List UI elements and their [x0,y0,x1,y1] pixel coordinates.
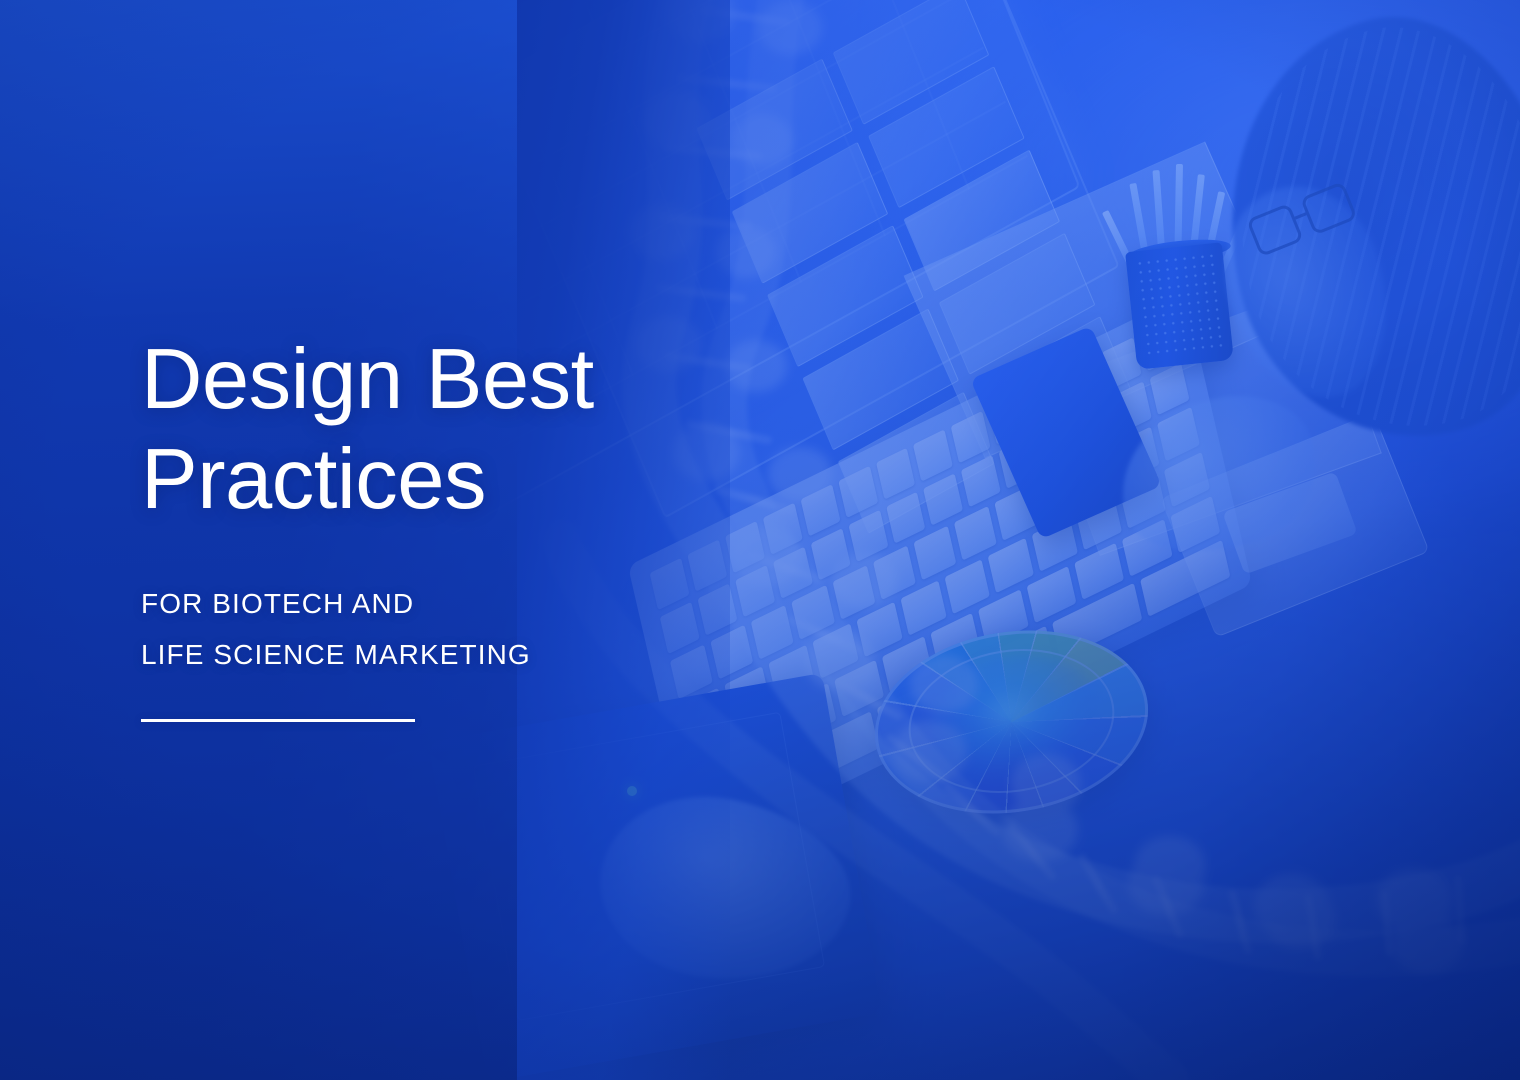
subtitle-line-2: LIFE SCIENCE MARKETING [141,629,901,680]
title-slide: Design Best Practices FOR BIOTECH AND LI… [0,0,1520,1080]
title-block: Design Best Practices FOR BIOTECH AND LI… [141,330,901,722]
page-title: Design Best Practices [141,330,901,530]
divider-rule [141,719,415,722]
subtitle-line-1: FOR BIOTECH AND [141,578,901,629]
subtitle-block: FOR BIOTECH AND LIFE SCIENCE MARKETING [141,578,901,680]
